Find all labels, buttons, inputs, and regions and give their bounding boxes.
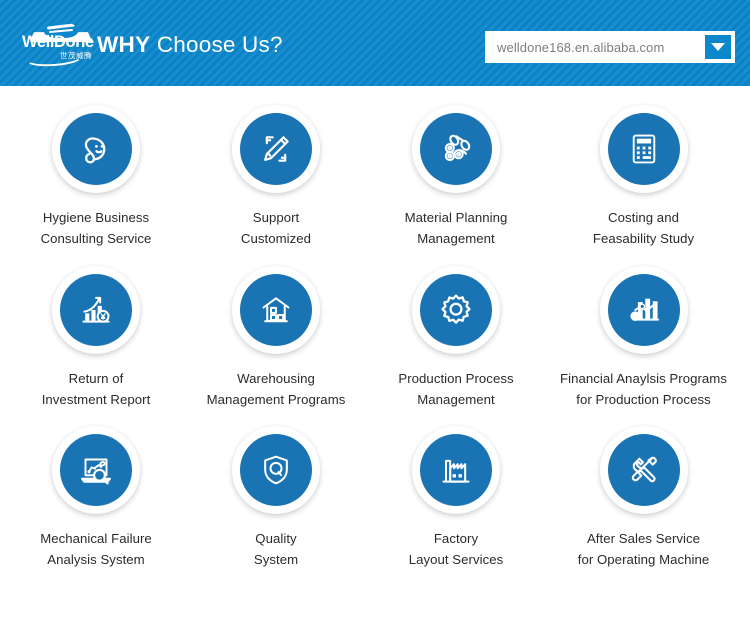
service-item-mechanical-failure-analysis[interactable]: Mechanical Failure Analysis System — [6, 426, 186, 570]
why-choose-us-page: WellDone 世茂威腾 WHY Choose Us? welldone168… — [0, 0, 750, 624]
service-item-production-process[interactable]: Production Process Management — [366, 266, 546, 410]
service-icon-badge — [600, 105, 688, 193]
service-label: After Sales Service for Operating Machin… — [578, 528, 710, 570]
service-label: Factory Layout Services — [409, 528, 504, 570]
service-label: Mechanical Failure Analysis System — [40, 528, 152, 570]
service-label: Support Customized — [241, 207, 311, 249]
service-icon-badge — [412, 105, 500, 193]
logo-wordmark: WellDone — [22, 34, 100, 51]
material-rolls-icon — [420, 113, 492, 185]
service-label: Production Process Management — [398, 368, 513, 410]
laptop-robot-magnifier-icon — [60, 434, 132, 506]
service-icon-badge — [52, 105, 140, 193]
url-text: welldone168.en.alibaba.com — [497, 40, 664, 55]
growth-chart-yen-icon — [60, 274, 132, 346]
services-row: Return of Investment Report — [6, 266, 750, 410]
service-label: Warehousing Management Programs — [207, 368, 346, 410]
url-dropdown-button[interactable] — [705, 35, 731, 59]
service-icon-badge — [232, 105, 320, 193]
service-item-quality-system[interactable]: Quality System — [186, 426, 366, 570]
service-label: Financial Anaylsis Programs for Producti… — [560, 368, 727, 410]
service-label: Quality System — [254, 528, 298, 570]
service-label: Costing and Feasability Study — [593, 207, 694, 249]
warehouse-boxes-icon — [240, 274, 312, 346]
service-item-support-customized[interactable]: Support Customized — [186, 105, 366, 249]
services-row: Mechanical Failure Analysis System Quali… — [6, 426, 750, 570]
services-row: Hygiene Business Consulting Service — [6, 105, 750, 249]
service-icon-badge — [232, 426, 320, 514]
page-title: WHY Choose Us? — [97, 32, 283, 58]
service-icon-badge — [52, 266, 140, 354]
welldone-logo: WellDone 世茂威腾 — [22, 20, 100, 66]
financial-analysis-chart-icon — [608, 274, 680, 346]
service-item-return-of-investment[interactable]: Return of Investment Report — [6, 266, 186, 410]
service-item-costing-feasability[interactable]: Costing and Feasability Study — [546, 105, 741, 249]
page-header: WellDone 世茂威腾 WHY Choose Us? welldone168… — [0, 0, 750, 86]
page-title-bold: WHY — [97, 32, 150, 57]
chevron-down-icon — [711, 43, 725, 51]
factory-icon — [420, 434, 492, 506]
page-title-rest: Choose Us? — [150, 32, 282, 57]
service-icon-badge — [412, 266, 500, 354]
url-field[interactable]: welldone168.en.alibaba.com — [485, 31, 735, 63]
calculator-icon — [608, 113, 680, 185]
service-label: Return of Investment Report — [42, 368, 151, 410]
service-item-factory-layout[interactable]: Factory Layout Services — [366, 426, 546, 570]
service-icon-badge — [600, 426, 688, 514]
pencil-ruler-icon — [240, 113, 312, 185]
shield-q-icon — [240, 434, 312, 506]
service-item-after-sales-service[interactable]: After Sales Service for Operating Machin… — [546, 426, 741, 570]
wrench-screwdriver-icon — [608, 434, 680, 506]
service-icon-badge — [52, 426, 140, 514]
services-grid: Hygiene Business Consulting Service — [0, 86, 750, 570]
service-item-warehousing-management[interactable]: Warehousing Management Programs — [186, 266, 366, 410]
phone-smiley-icon — [60, 113, 132, 185]
service-label: Material Planning Management — [405, 207, 508, 249]
gear-icon — [420, 274, 492, 346]
service-item-hygiene-business-consulting[interactable]: Hygiene Business Consulting Service — [6, 105, 186, 249]
service-label: Hygiene Business Consulting Service — [41, 207, 152, 249]
service-item-financial-analysis[interactable]: Financial Anaylsis Programs for Producti… — [546, 266, 741, 410]
service-icon-badge — [412, 426, 500, 514]
service-icon-badge — [232, 266, 320, 354]
service-item-material-planning[interactable]: Material Planning Management — [366, 105, 546, 249]
service-icon-badge — [600, 266, 688, 354]
